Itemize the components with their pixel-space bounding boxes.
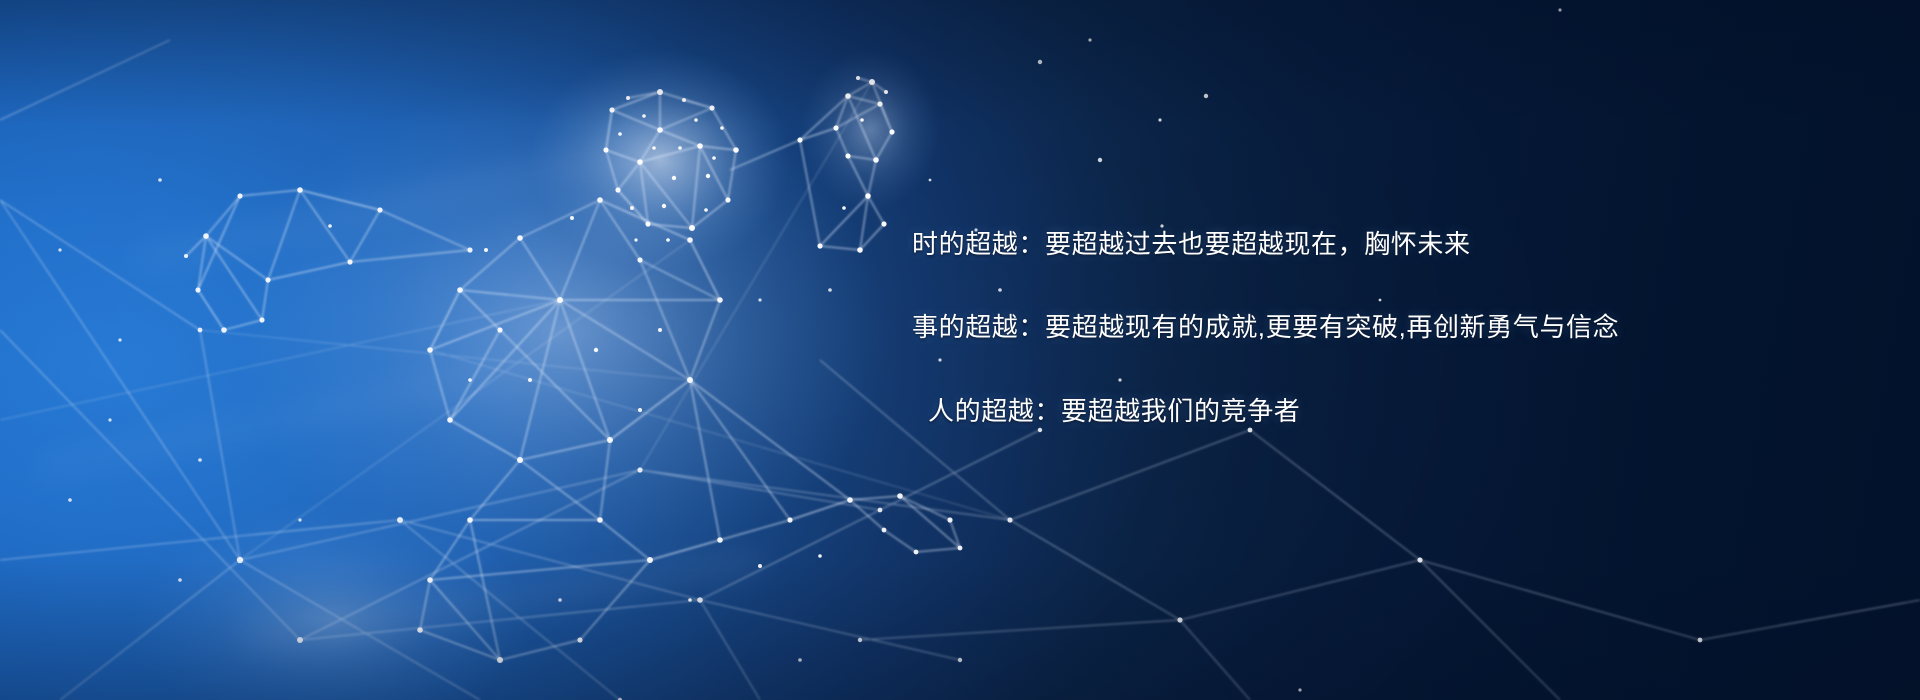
slogan-line-matter: 事的超越：要超越现有的成就,更要有突破,再创新勇气与信念 bbox=[912, 311, 1842, 344]
slogan-line-time: 时的超越：要超越过去也要超越现在，胸怀未来 bbox=[912, 228, 1842, 261]
slogan-line-people: 人的超越：要超越我们的竞争者 bbox=[912, 395, 1842, 428]
slogan-block: 时的超越：要超越过去也要超越现在，胸怀未来 事的超越：要超越现有的成就,更要有突… bbox=[912, 228, 1842, 428]
hero-banner: 时的超越：要超越过去也要超越现在，胸怀未来 事的超越：要超越现有的成就,更要有突… bbox=[0, 0, 1920, 700]
